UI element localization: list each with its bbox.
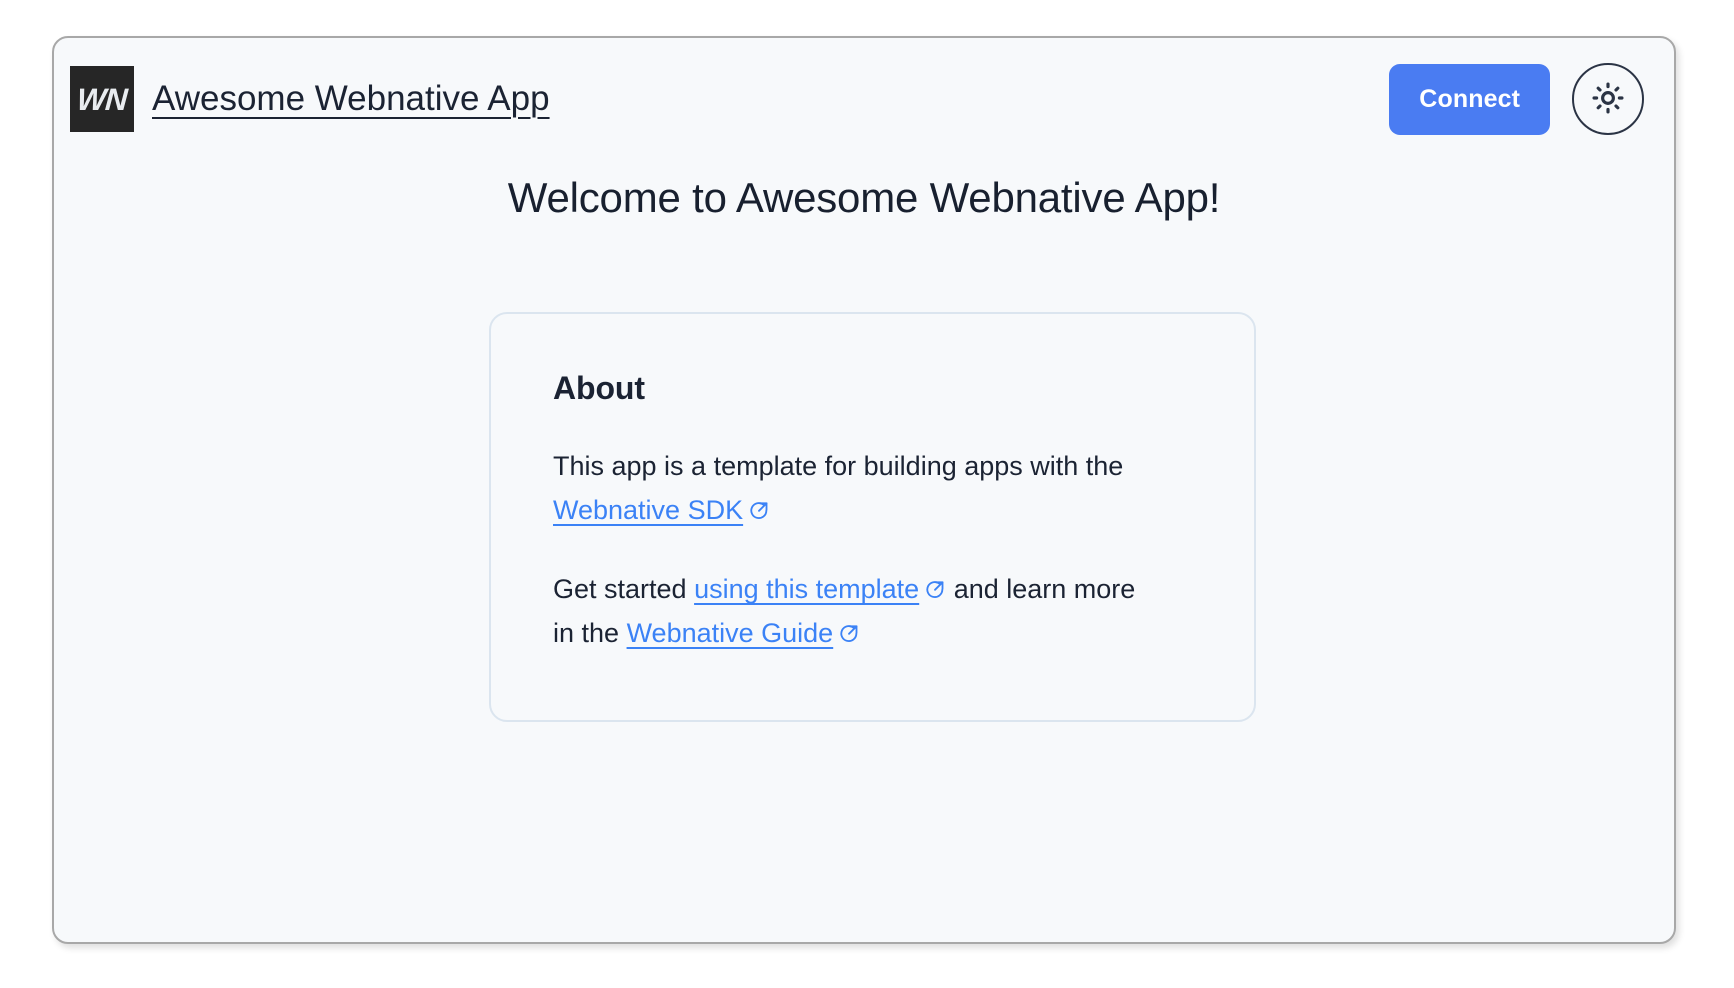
main-content: Welcome to Awesome Webnative App! About …	[54, 160, 1674, 942]
about-heading: About	[553, 370, 1254, 407]
sun-icon	[1589, 79, 1627, 120]
app-title: Awesome Webnative App	[152, 80, 550, 119]
webnative-sdk-link[interactable]: Webnative SDK	[553, 495, 743, 525]
about-card: About This app is a template for buildin…	[489, 312, 1256, 722]
about-paragraph-1-lead: This app is a template for building apps…	[553, 451, 1123, 481]
brand-link[interactable]: WN Awesome Webnative App	[70, 66, 550, 132]
connect-button[interactable]: Connect	[1389, 64, 1550, 135]
using-this-template-link[interactable]: using this template	[694, 574, 919, 604]
about-paragraph-2-lead: Get started	[553, 574, 694, 604]
using-this-template-link-label: using this template	[694, 574, 919, 604]
page-root: WN Awesome Webnative App Connect	[0, 0, 1734, 988]
webnative-guide-link[interactable]: Webnative Guide	[627, 618, 834, 648]
logo-text: WN	[76, 84, 128, 115]
external-link-icon	[748, 500, 770, 522]
page-title: Welcome to Awesome Webnative App!	[54, 174, 1674, 222]
header-actions: Connect	[1389, 63, 1644, 135]
about-paragraph-2: Get started using this template and lear…	[553, 568, 1143, 655]
about-card-body: About This app is a template for buildin…	[491, 314, 1254, 656]
about-paragraph-1: This app is a template for building apps…	[553, 445, 1143, 532]
webnative-guide-link-label: Webnative Guide	[627, 618, 834, 648]
app-header: WN Awesome Webnative App Connect	[54, 38, 1674, 160]
external-link-icon	[838, 623, 860, 645]
theme-toggle-button[interactable]	[1572, 63, 1644, 135]
external-link-icon	[924, 579, 946, 601]
webnative-sdk-link-label: Webnative SDK	[553, 495, 743, 525]
webnative-logo-icon: WN	[70, 66, 134, 132]
app-window: WN Awesome Webnative App Connect	[52, 36, 1676, 944]
